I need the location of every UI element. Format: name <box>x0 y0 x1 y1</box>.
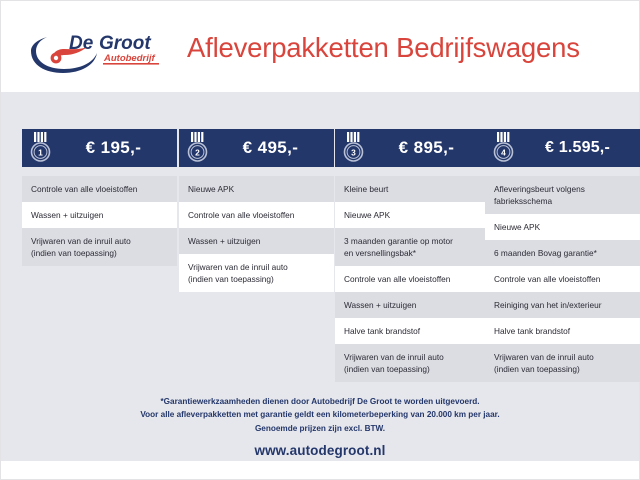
package-items-4: Afleveringsbeurt volgens fabrieksschema … <box>485 176 640 382</box>
medal-rank-3: 3 <box>351 147 356 157</box>
medal-rank-2: 2 <box>195 147 200 157</box>
list-item: Afleveringsbeurt volgens fabrieksschema <box>485 176 640 214</box>
page-title: Afleverpakketten Bedrijfswagens <box>187 32 580 64</box>
package-price-3: € 895,- <box>369 138 490 158</box>
package-items-2: Nieuwe APK Controle van alle vloeistoffe… <box>179 176 334 292</box>
svg-text:Autobedrijf: Autobedrijf <box>103 53 155 64</box>
list-item: Wassen + uitzuigen <box>179 228 334 254</box>
package-header-4: 4 € 1.595,- <box>485 129 640 167</box>
package-header-1: 1 € 195,- <box>22 129 177 167</box>
package-column-2: 2 € 495,- Nieuwe APK Controle van alle v… <box>179 129 334 292</box>
list-item: Controle van alle vloeistoffen <box>485 266 640 292</box>
list-item: Controle van alle vloeistoffen <box>22 176 177 202</box>
package-column-3: 3 € 895,- Kleine beurt Nieuwe APK 3 maan… <box>335 129 490 382</box>
package-price-2: € 495,- <box>213 138 334 158</box>
medal-icon: 2 <box>185 131 211 165</box>
company-logo: De Groot Autobedrijf <box>23 29 163 77</box>
list-item: Vrijwaren van de inruil auto (indien van… <box>179 254 334 292</box>
list-item: Vrijwaren van de inruil auto (indien van… <box>22 228 177 266</box>
package-price-4: € 1.595,- <box>519 139 640 157</box>
medal-icon: 4 <box>491 131 517 165</box>
package-column-1: 1 € 195,- Controle van alle vloeistoffen… <box>22 129 177 266</box>
list-item: Nieuwe APK <box>179 176 334 202</box>
list-item: Vrijwaren van de inruil auto (indien van… <box>335 344 490 382</box>
list-item: Vrijwaren van de inruil auto (indien van… <box>485 344 640 382</box>
list-item: Controle van alle vloeistoffen <box>335 266 490 292</box>
medal-rank-4: 4 <box>501 147 506 157</box>
package-header-3: 3 € 895,- <box>335 129 490 167</box>
list-item: Wassen + uitzuigen <box>335 292 490 318</box>
flyer-page: De Groot Autobedrijf Afleverpakketten Be… <box>0 0 640 480</box>
logo-graphic: De Groot Autobedrijf <box>23 29 163 77</box>
package-header-2: 2 € 495,- <box>179 129 334 167</box>
list-item: 3 maanden garantie op motor en versnelli… <box>335 228 490 266</box>
disclaimer-line-3: Genoemde prijzen zijn excl. BTW. <box>1 422 639 435</box>
package-column-4: 4 € 1.595,- Afleveringsbeurt volgens fab… <box>485 129 640 382</box>
list-item: Wassen + uitzuigen <box>22 202 177 228</box>
list-item: Halve tank brandstof <box>335 318 490 344</box>
package-items-3: Kleine beurt Nieuwe APK 3 maanden garant… <box>335 176 490 382</box>
package-items-1: Controle van alle vloeistoffen Wassen + … <box>22 176 177 266</box>
list-item: Controle van alle vloeistoffen <box>179 202 334 228</box>
svg-text:De: De <box>69 33 94 54</box>
medal-rank-1: 1 <box>38 147 43 157</box>
disclaimer-line-2: Voor alle afleverpakketten met garantie … <box>1 408 639 421</box>
list-item: Reiniging van het in/exterieur <box>485 292 640 318</box>
list-item: Kleine beurt <box>335 176 490 202</box>
package-price-1: € 195,- <box>56 138 177 158</box>
list-item: Halve tank brandstof <box>485 318 640 344</box>
page-header: De Groot Autobedrijf Afleverpakketten Be… <box>1 1 639 92</box>
medal-icon: 1 <box>28 131 54 165</box>
list-item: 6 maanden Bovag garantie* <box>485 240 640 266</box>
medal-icon: 3 <box>341 131 367 165</box>
svg-text:Groot: Groot <box>99 33 151 54</box>
list-item: Nieuwe APK <box>335 202 490 228</box>
disclaimer-line-1: *Garantiewerkzaamheden dienen door Autob… <box>1 395 639 408</box>
list-item: Nieuwe APK <box>485 214 640 240</box>
website-url[interactable]: www.autodegroot.nl <box>1 443 639 458</box>
footer-disclaimer: *Garantiewerkzaamheden dienen door Autob… <box>1 395 639 435</box>
